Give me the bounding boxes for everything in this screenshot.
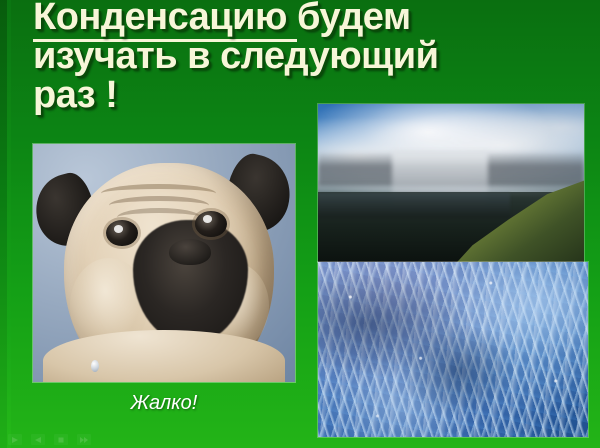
slide-title-line1-rest: будем — [297, 0, 411, 38]
stop-icon[interactable] — [54, 434, 68, 445]
distant-ridge — [318, 193, 510, 218]
presentation-slide: Конденсацию будемизучать в следующийраз … — [0, 0, 600, 448]
dog-left-eye — [106, 220, 137, 246]
dog-nose — [169, 239, 211, 265]
rain-shower-clouds-photo — [318, 104, 584, 262]
dog-right-eye — [195, 211, 226, 237]
eye-glint — [114, 225, 123, 233]
eye-glint — [203, 215, 212, 223]
slide-title: Конденсацию будемизучать в следующийраз … — [33, 0, 553, 115]
next-icon[interactable] — [77, 434, 91, 445]
frost-sparkle-highlights — [318, 262, 588, 437]
left-edge-accent-band-secondary — [7, 0, 11, 448]
play-icon[interactable] — [8, 434, 22, 445]
slideshow-controls[interactable] — [8, 434, 91, 445]
slide-title-line2: изучать в следующий — [33, 35, 438, 77]
slide-title-line3: раз ! — [33, 74, 117, 116]
previous-icon[interactable] — [31, 434, 45, 445]
left-edge-accent-band — [0, 0, 7, 448]
dog-collar-tag — [91, 360, 99, 372]
frost-crystals-photo — [318, 262, 588, 437]
dog-photo-caption: Жалко! — [33, 392, 295, 415]
pug-dog-photo — [33, 144, 295, 382]
